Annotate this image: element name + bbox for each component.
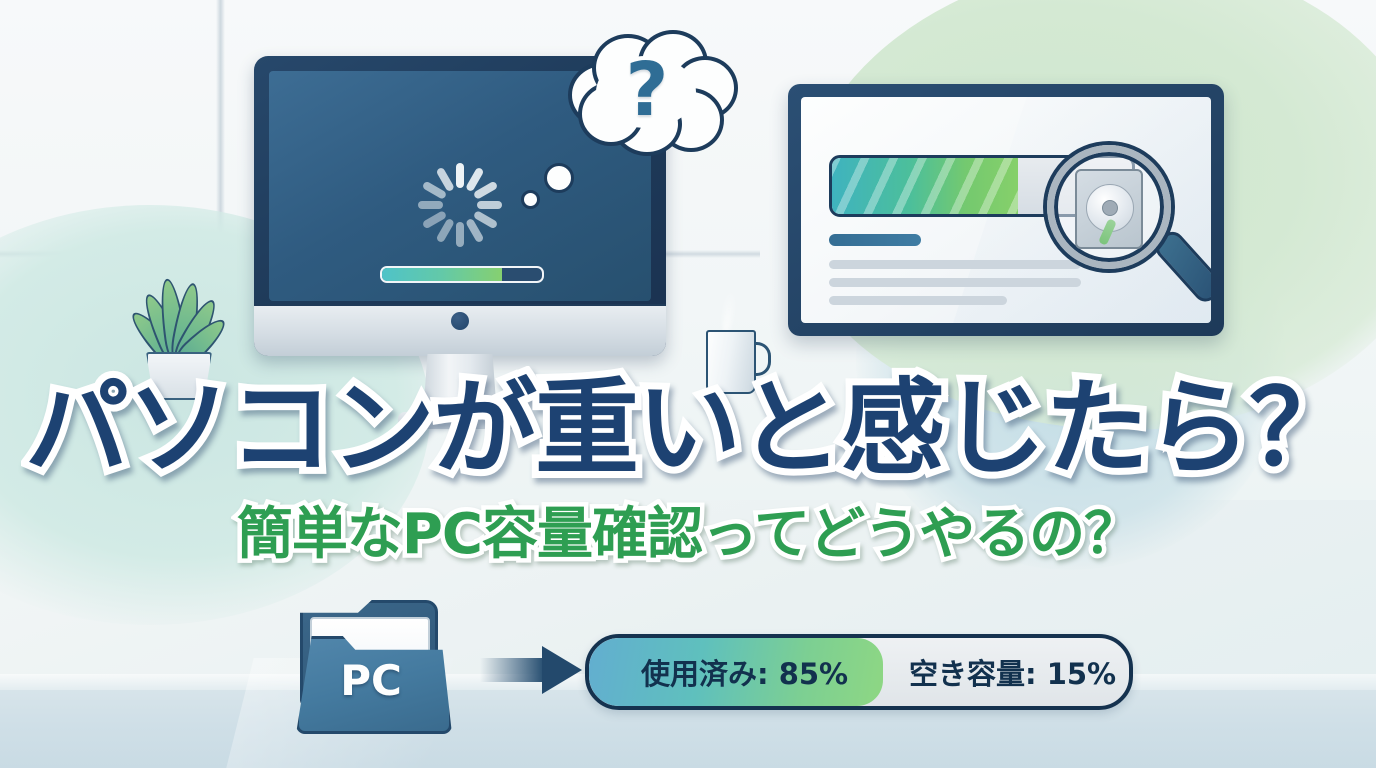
thought-bubble: ? [562,30,732,150]
monitor-progress-bar [380,266,544,283]
thought-bubble-dot-medium [544,163,574,193]
panel-text-placeholder [829,296,1007,305]
capacity-used-label: 使用済み: 85% [641,638,848,706]
panel-heading-placeholder [829,234,921,246]
magnifier-icon [1047,145,1171,269]
pc-folder-icon[interactable]: PC [296,600,446,728]
arrow-head [542,646,582,694]
thought-bubble-dot-small [521,190,540,209]
poster-canvas: ? [0,0,1376,768]
page-title: パソコンが重いと感じたら？ [0,374,1376,483]
arrow-shaft [480,658,548,682]
right-arrow-icon [480,646,586,694]
capacity-free-label: 空き容量: 15% [909,638,1116,706]
capacity-bar: 使用済み: 85% 空き容量: 15% [585,634,1133,710]
panel-text-placeholder [829,278,1081,287]
storage-usage-fill [832,158,1018,214]
monitor-power-indicator [451,312,469,330]
hard-disk-icon [1075,169,1143,249]
storage-report-screen [788,84,1224,336]
page-subtitle: 簡単なPC容量確認ってどうやるの？ [0,506,1376,565]
tablet-display [801,97,1211,323]
loading-spinner-icon [418,163,502,247]
monitor-progress-fill [382,268,502,281]
storage-stripe-pattern [832,158,1018,214]
folder-label: PC [296,656,446,705]
panel-text-placeholder [829,260,1081,269]
question-mark-icon: ? [562,30,732,150]
